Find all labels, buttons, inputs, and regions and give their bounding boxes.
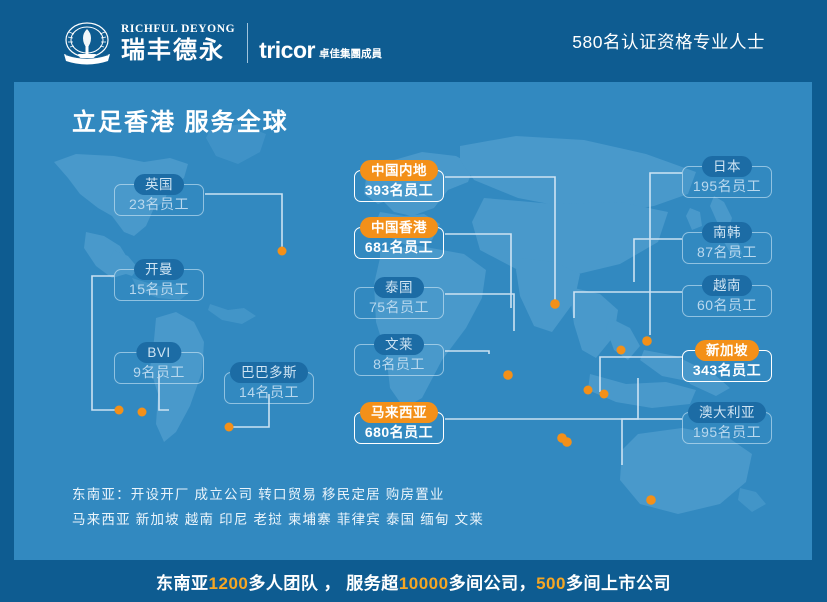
location-employee-count: 393名员工 xyxy=(354,180,444,200)
brand-name-cn: 瑞丰德永 xyxy=(121,38,235,64)
logo-divider xyxy=(247,23,248,63)
partner-logo: tricor 卓佳集團成員 xyxy=(259,18,382,68)
pin-thailand xyxy=(503,370,513,380)
location-name: BVI xyxy=(136,342,181,363)
header-tagline-text: 580名认证资格专业人士 xyxy=(572,29,765,54)
footer-number: 500 xyxy=(536,574,566,593)
footer-summary-text: 东南亚1200多人团队 ， 服务超10000多间公司，500多间上市公司 xyxy=(156,569,671,594)
brand-name-en: RICHFUL DEYONG xyxy=(121,23,235,35)
footer-text-segment: 多人团队 ， 服务超 xyxy=(248,574,398,593)
crest-icon xyxy=(60,21,114,65)
pin-china xyxy=(550,299,560,309)
location-employee-count: 87名员工 xyxy=(682,242,772,262)
location-name: 日本 xyxy=(702,156,752,177)
pin-korea xyxy=(617,346,626,355)
location-employee-count: 195名员工 xyxy=(682,422,772,442)
location-employee-count: 680名员工 xyxy=(354,422,444,442)
note-line-2: 马来西亚 新加坡 越南 印尼 老挝 柬埔寨 菲律宾 泰国 缅甸 文莱 xyxy=(72,507,484,532)
footer-number: 1200 xyxy=(209,574,249,593)
location-employee-count: 14名员工 xyxy=(224,382,314,402)
location-name: 英国 xyxy=(134,174,184,195)
page-root: RICHFUL DEYONG 瑞丰德永 tricor 卓佳集團成員 580名认证… xyxy=(0,0,827,602)
location-employee-count: 195名员工 xyxy=(682,176,772,196)
location-name: 马来西亚 xyxy=(360,402,438,423)
pin-bvi xyxy=(138,408,147,417)
page-footer: 东南亚1200多人团队 ， 服务超10000多间公司，500多间上市公司 xyxy=(0,560,827,602)
location-name: 巴巴多斯 xyxy=(230,362,308,383)
location-employee-count: 343名员工 xyxy=(682,360,772,380)
location-employee-count: 15名员工 xyxy=(114,279,204,299)
notes-block: 东南亚：开设开厂 成立公司 转口贸易 移民定居 购房置业 马来西亚 新加坡 越南… xyxy=(72,482,484,532)
location-employee-count: 8名员工 xyxy=(354,354,444,374)
map-panel: 立足香港 服务全球 英国23名员工开曼15名员工BVI9名员工巴巴多斯14名员工… xyxy=(14,82,812,560)
location-name: 越南 xyxy=(702,275,752,296)
brand-logo: RICHFUL DEYONG 瑞丰德永 tricor 卓佳集團成員 xyxy=(60,20,382,66)
pin-singapore xyxy=(562,437,572,447)
footer-text-segment: 多间公司， xyxy=(449,574,537,593)
location-employee-count: 9名员工 xyxy=(114,362,204,382)
pin-brunei xyxy=(600,390,609,399)
page-title: 立足香港 服务全球 xyxy=(72,102,289,137)
footer-text-segment: 东南亚 xyxy=(156,574,209,593)
location-employee-count: 60名员工 xyxy=(682,295,772,315)
location-employee-count: 681名员工 xyxy=(354,237,444,257)
pin-japan xyxy=(642,336,652,346)
footer-number: 10000 xyxy=(399,574,449,593)
location-name: 中国内地 xyxy=(360,160,438,181)
partner-subtitle: 卓佳集團成員 xyxy=(319,48,382,60)
pin-cayman xyxy=(115,406,124,415)
location-name: 泰国 xyxy=(374,277,424,298)
location-employee-count: 75名员工 xyxy=(354,297,444,317)
brand-wordmark: RICHFUL DEYONG 瑞丰德永 xyxy=(121,21,235,65)
pin-australia xyxy=(646,495,656,505)
footer-text-segment: 多间上市公司 xyxy=(566,574,671,593)
location-employee-count: 23名员工 xyxy=(114,194,204,214)
location-name: 开曼 xyxy=(134,259,184,280)
partner-name: tricor xyxy=(259,39,315,62)
location-name: 中国香港 xyxy=(360,217,438,238)
location-name: 新加坡 xyxy=(695,340,759,361)
pin-uk xyxy=(278,247,287,256)
location-name: 南韩 xyxy=(702,222,752,243)
pin-barbados xyxy=(225,423,234,432)
location-name: 文莱 xyxy=(374,334,424,355)
header-tagline: 580名认证资格专业人士 xyxy=(572,0,765,82)
location-name: 澳大利亚 xyxy=(688,402,766,423)
note-line-1: 东南亚：开设开厂 成立公司 转口贸易 移民定居 购房置业 xyxy=(72,482,484,507)
page-header: RICHFUL DEYONG 瑞丰德永 tricor 卓佳集團成員 580名认证… xyxy=(0,0,827,82)
